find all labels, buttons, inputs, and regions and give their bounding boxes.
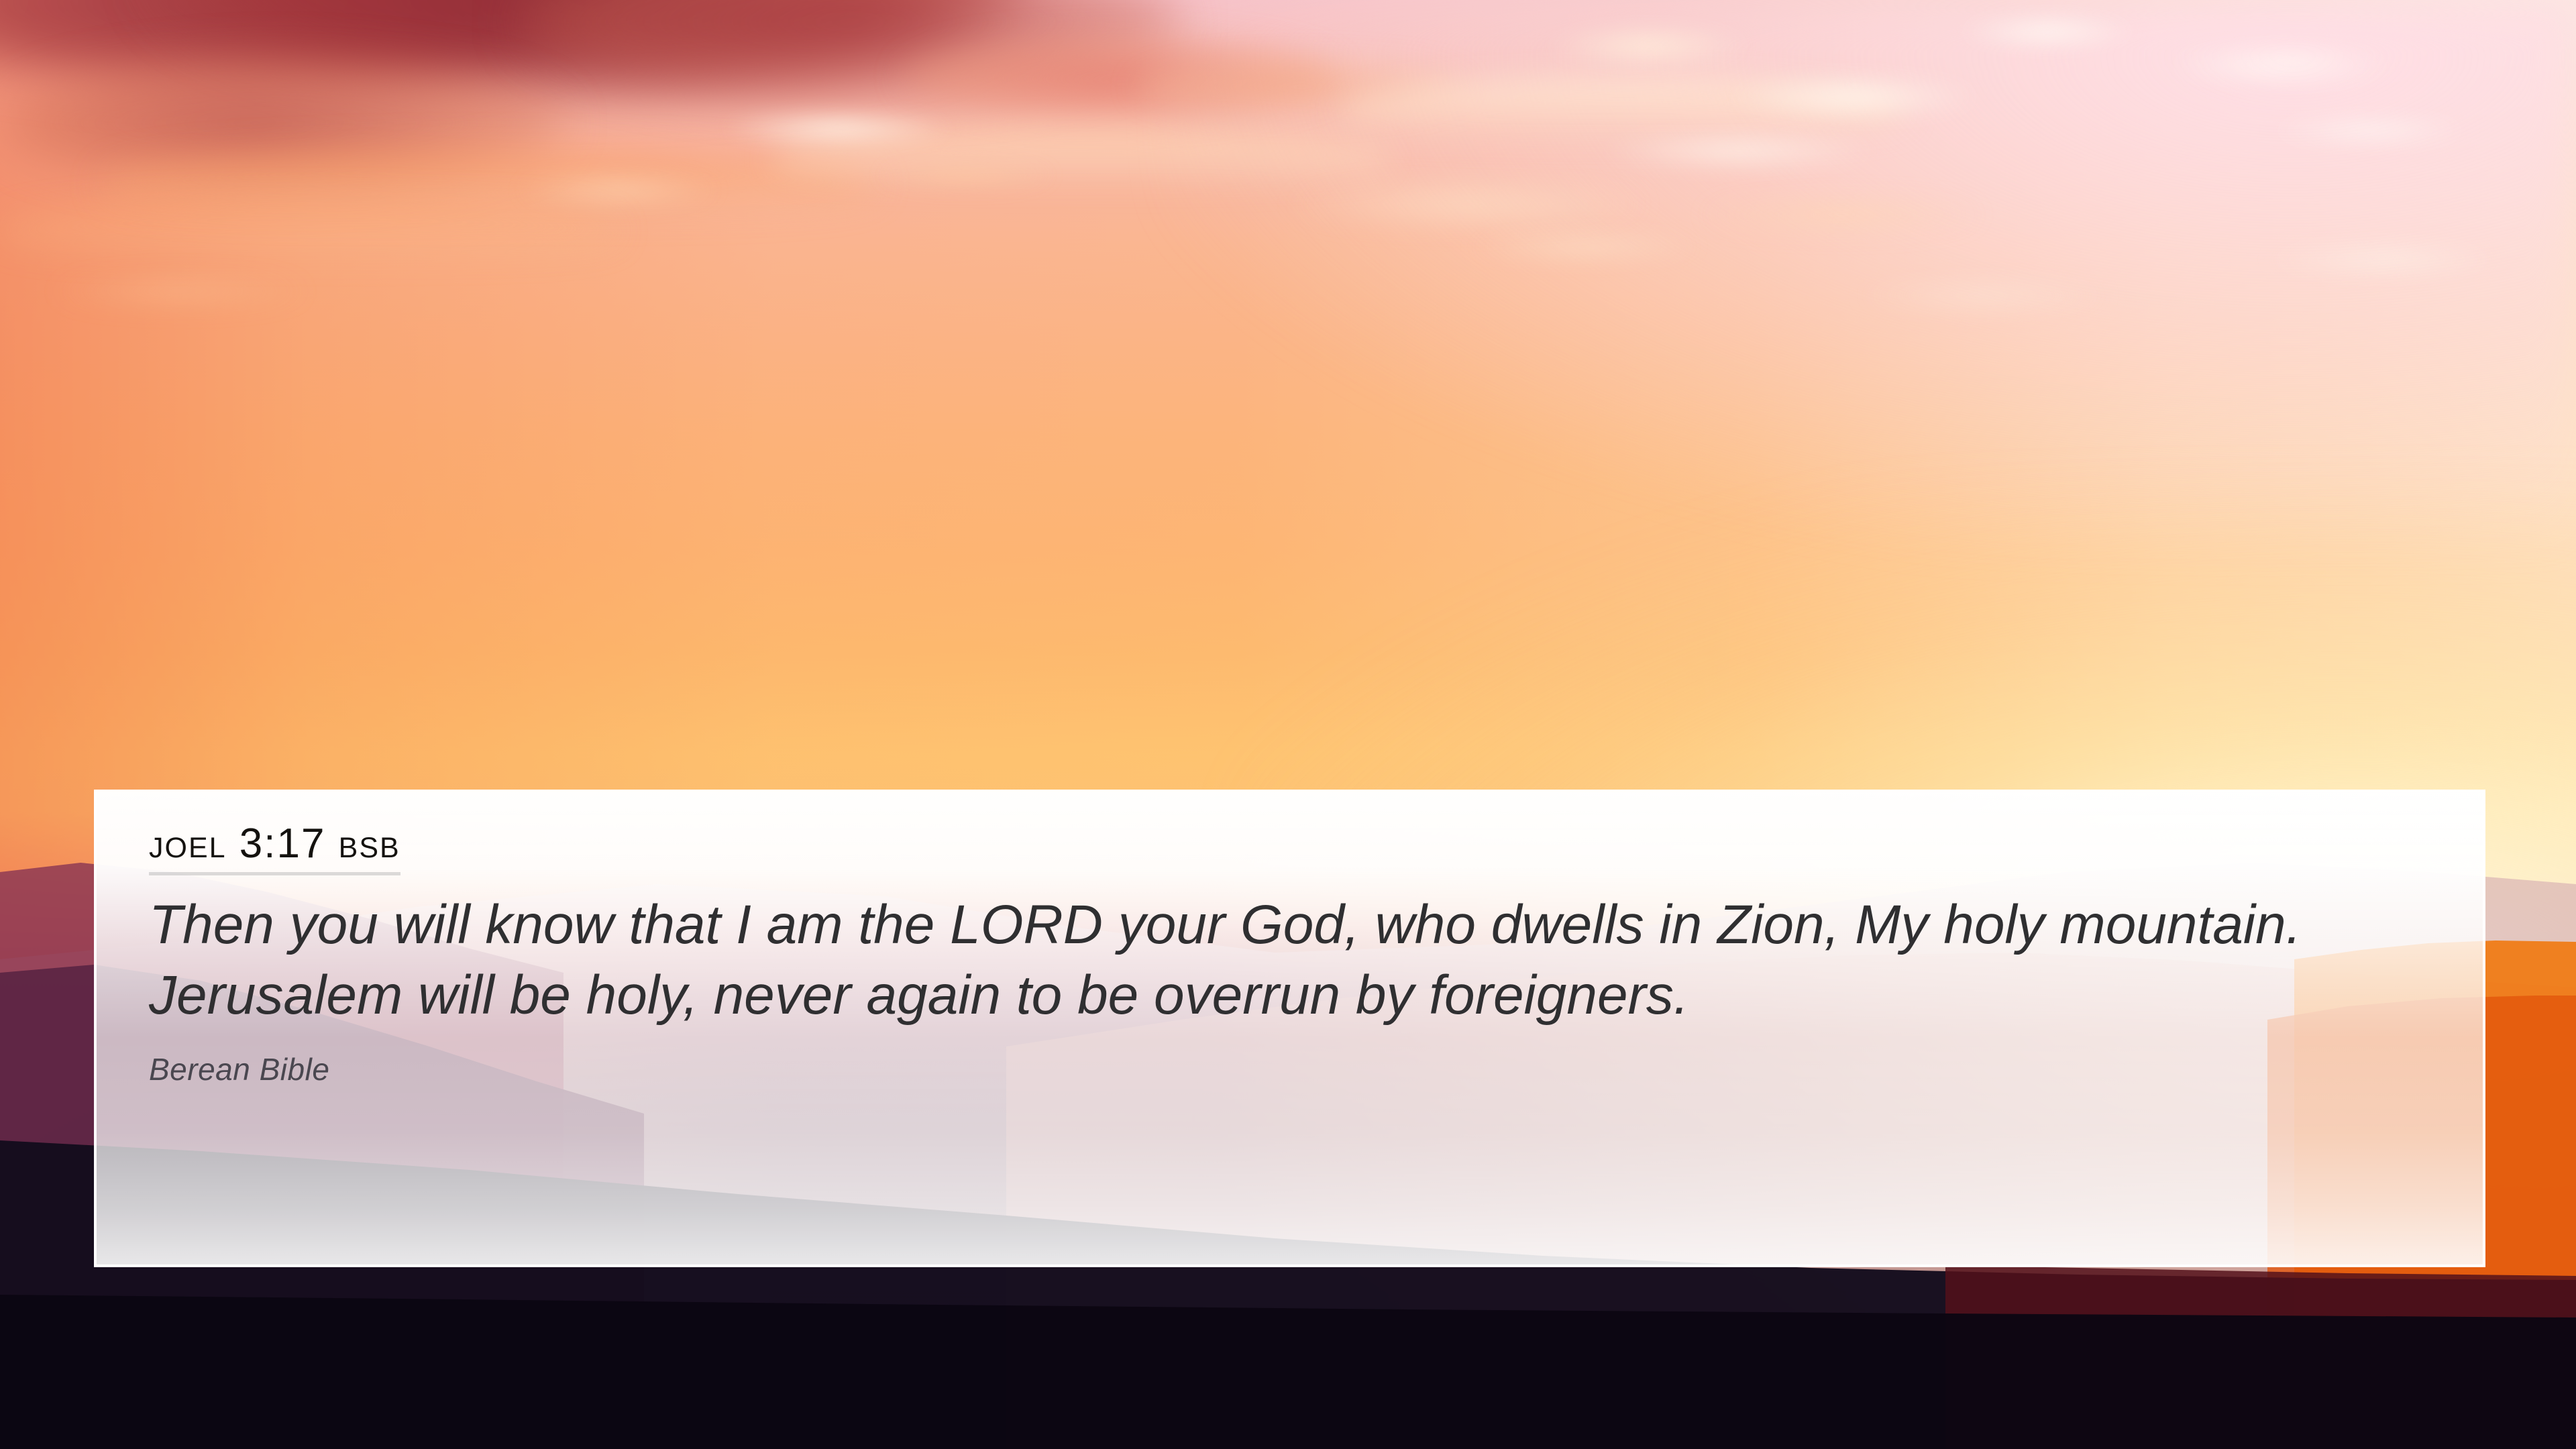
screenshot-root: Joel 3:17 BSB Then you will know that I …: [0, 0, 2576, 1449]
verse-source-attribution: Berean Bible: [149, 1051, 2445, 1087]
verse-text: Then you will know that I am the LORD yo…: [149, 890, 2443, 1031]
verse-reference: Joel 3:17 BSB: [149, 822, 400, 875]
verse-quote-card: Joel 3:17 BSB Then you will know that I …: [94, 790, 2485, 1267]
foreground-dark-mass-front: [0, 1295, 2576, 1449]
